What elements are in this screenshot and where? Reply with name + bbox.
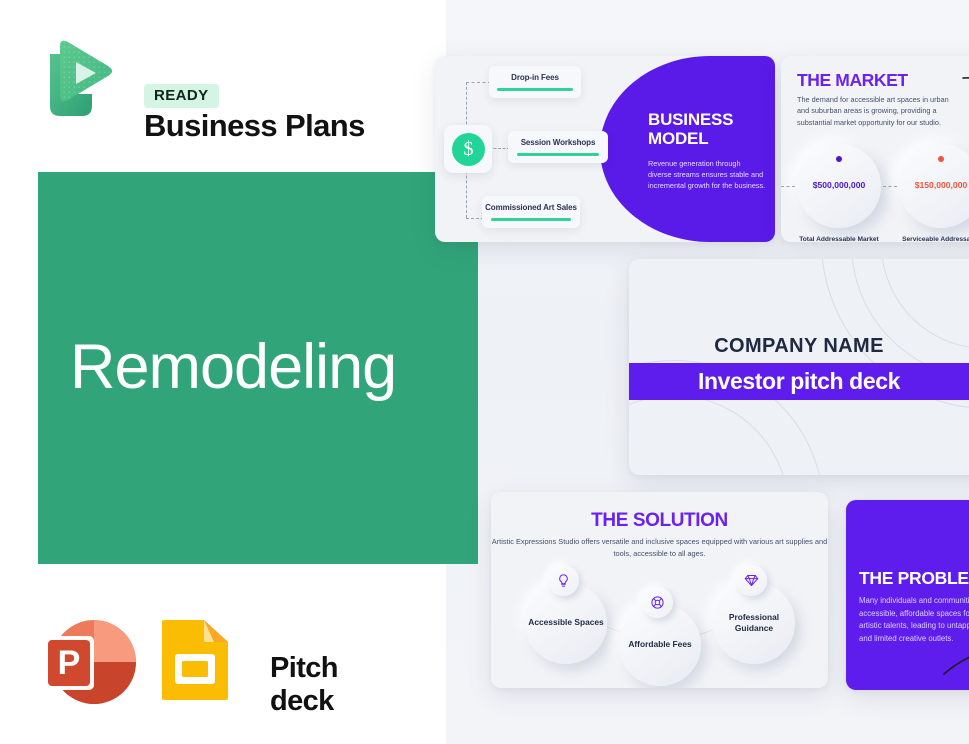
revenue-chip-label: Drop-in Fees <box>511 73 559 82</box>
revenue-chip-bar <box>517 153 599 156</box>
lifebuoy-icon <box>642 587 673 618</box>
market-metric-caption: Serviceable Addressable Market (SAM) <box>893 236 969 242</box>
revenue-chip-label: Session Workshops <box>521 138 596 147</box>
revenue-chip-label: Commissioned Art Sales <box>485 203 577 212</box>
solution-pillar-label: Accessible Spaces <box>528 617 603 628</box>
connector-top <box>466 82 491 83</box>
ready-badge: READY <box>144 84 219 108</box>
market-body: The demand for accessible art spaces in … <box>797 94 959 128</box>
market-metric-value: $150,000,000 <box>899 180 969 190</box>
connector-middle <box>489 148 510 149</box>
market-title: THE MARKET <box>797 70 908 91</box>
business-model-purple-panel: BUSINESS MODEL Revenue generation throug… <box>600 56 775 242</box>
dollar-icon: $ <box>452 133 485 166</box>
revenue-chip[interactable]: Commissioned Art Sales <box>482 196 580 228</box>
brand-header: READY Business Plans <box>36 34 366 122</box>
revenue-chip[interactable]: Drop-in Fees <box>489 66 581 98</box>
metric-dot <box>836 156 842 162</box>
metric-connector <box>781 186 795 187</box>
play-logo-icon <box>38 36 116 120</box>
market-metric-caption: Total Addressable Market (TAM) <box>791 236 887 242</box>
revenue-chip-bar <box>491 218 571 221</box>
powerpoint-icon: P <box>40 616 136 704</box>
revenue-chip[interactable]: Session Workshops <box>508 131 608 163</box>
problem-title: THE PROBLEM <box>859 568 969 589</box>
solution-pillar-label: Professional Guidance <box>713 612 795 635</box>
problem-swoosh-icon <box>942 640 969 680</box>
slide-company-name[interactable]: COMPANY NAME Investor pitch deck <box>629 259 969 475</box>
revenue-chip-bar <box>497 88 572 91</box>
lightbulb-icon <box>548 565 579 596</box>
business-model-title: BUSINESS MODEL <box>648 110 768 148</box>
diamond-icon <box>736 565 767 596</box>
slide-the-market[interactable]: THE MARKET The demand for accessible art… <box>781 56 969 242</box>
company-subtitle-band: Investor pitch deck <box>629 363 969 400</box>
business-model-body: Revenue generation through diverse strea… <box>648 159 766 192</box>
curved-arrow-icon <box>961 72 969 114</box>
problem-body: Many individuals and communities lack ac… <box>859 595 969 646</box>
metric-connector <box>883 186 897 187</box>
hero-word: Remodeling <box>70 336 396 399</box>
svg-text:P: P <box>58 644 81 682</box>
metric-dot <box>938 156 944 162</box>
brand-title: Business Plans <box>144 108 365 144</box>
format-label: Pitch deck <box>270 652 338 718</box>
solution-body: Artistic Expressions Studio offers versa… <box>491 536 828 560</box>
company-subtitle: Investor pitch deck <box>629 368 969 395</box>
slide-the-problem[interactable]: THE PROBLEM Many individuals and communi… <box>846 500 969 690</box>
solution-pillar-label: Affordable Fees <box>628 639 691 650</box>
company-name: COMPANY NAME <box>629 335 969 358</box>
solution-title: THE SOLUTION <box>491 510 828 532</box>
market-metric-value: $500,000,000 <box>797 180 881 190</box>
slide-the-solution[interactable]: THE SOLUTION Artistic Expressions Studio… <box>491 492 828 688</box>
poster-canvas: READY Business Plans Remodeling BUSINESS… <box>0 0 969 744</box>
google-slides-icon <box>158 618 232 702</box>
